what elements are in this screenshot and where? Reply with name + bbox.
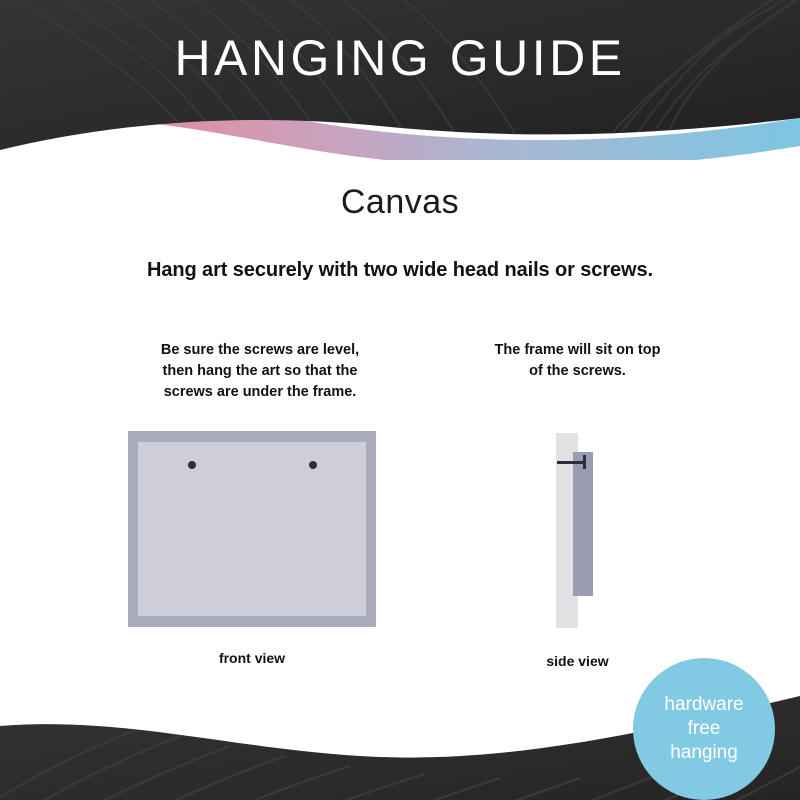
front-view-caption: Be sure the screws are level, then hang … (100, 340, 420, 403)
lead-instruction: Hang art securely with two wide head nai… (0, 259, 800, 282)
side-view-screw-head-icon (583, 455, 586, 469)
badge-line-3: hanging (664, 741, 743, 765)
front-view-frame-diagram (128, 431, 376, 627)
product-title: Canvas (0, 183, 800, 222)
hanging-guide-page: HANGING GUIDE Canvas Hang art securely w… (0, 0, 800, 800)
side-view-frame (573, 452, 593, 596)
front-view-label: front view (130, 650, 374, 666)
hardware-free-hanging-badge: hardware free hanging (633, 658, 775, 800)
side-caption-line-1: The frame will sit on top (450, 340, 705, 361)
front-caption-line-1: Be sure the screws are level, (100, 340, 420, 361)
side-view-caption-block: The frame will sit on top of the screws. (450, 340, 705, 382)
screw-dot-left-icon (188, 461, 196, 469)
side-view-label: side view (450, 653, 705, 669)
front-caption-line-3: screws are under the frame. (100, 382, 420, 403)
badge-line-2: free (664, 717, 743, 741)
front-view-canvas-panel (138, 442, 366, 616)
page-title: HANGING GUIDE (0, 28, 800, 88)
front-view-label-wrap: front view (130, 650, 374, 666)
front-view-caption-block: Be sure the screws are level, then hang … (100, 340, 420, 403)
side-view-caption: The frame will sit on top of the screws. (450, 340, 705, 382)
screw-dot-right-icon (309, 461, 317, 469)
badge-line-1: hardware (664, 693, 743, 717)
side-view-screw-shaft-icon (557, 461, 585, 464)
side-view-label-wrap: side view (450, 653, 705, 669)
badge-text: hardware free hanging (664, 693, 743, 765)
front-caption-line-2: then hang the art so that the (100, 361, 420, 382)
header-band: HANGING GUIDE (0, 0, 800, 160)
side-caption-line-2: of the screws. (450, 361, 705, 382)
